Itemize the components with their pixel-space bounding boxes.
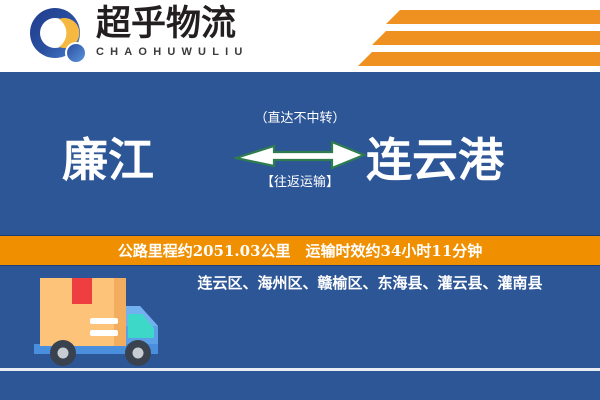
decorative-stripe-1 <box>386 10 600 24</box>
road-line-icon <box>0 368 600 371</box>
decorative-stripe-3 <box>358 52 600 66</box>
origin-city: 廉江 <box>62 130 154 190</box>
info-bar: 公路里程约2051.03公里 运输时效约34小时11分钟 <box>0 235 600 266</box>
brand-name-cn: 超乎物流 <box>96 4 249 44</box>
brand-name-pinyin: CHAOHUWULIU <box>96 45 249 59</box>
main-panel: 廉江 （直达不中转） 【往返运输】 连云港 公路里程约2051.03公里 运输时… <box>0 72 600 400</box>
header-bar: 超乎物流 CHAOHUWULIU <box>0 0 600 72</box>
coverage-districts: 连云区、海州区、赣榆区、东海县、灌云县、灌南县 <box>150 272 590 294</box>
destination-city: 连云港 <box>366 130 504 190</box>
brand-logo[interactable]: 超乎物流 CHAOHUWULIU <box>26 4 249 68</box>
circle-crescent-logo-icon <box>26 6 92 68</box>
route-row: 廉江 （直达不中转） 【往返运输】 连云港 <box>0 110 600 220</box>
direct-shipping-note: （直达不中转） <box>236 110 364 128</box>
decorative-stripe-2 <box>372 31 600 45</box>
logistics-route-banner: 超乎物流 CHAOHUWULIU 廉江 （直达不中转） 【往返运输】 连云港 公… <box>0 0 600 400</box>
distance-duration-text: 公路里程约2051.03公里 运输时效约34小时11分钟 <box>118 240 483 261</box>
route-arrow-group: （直达不中转） 【往返运输】 <box>236 110 364 218</box>
roundtrip-note: 【往返运输】 <box>236 174 364 192</box>
brand-text: 超乎物流 CHAOHUWULIU <box>96 4 249 59</box>
double-headed-arrow-icon <box>234 138 366 172</box>
delivery-truck-icon <box>28 270 164 370</box>
